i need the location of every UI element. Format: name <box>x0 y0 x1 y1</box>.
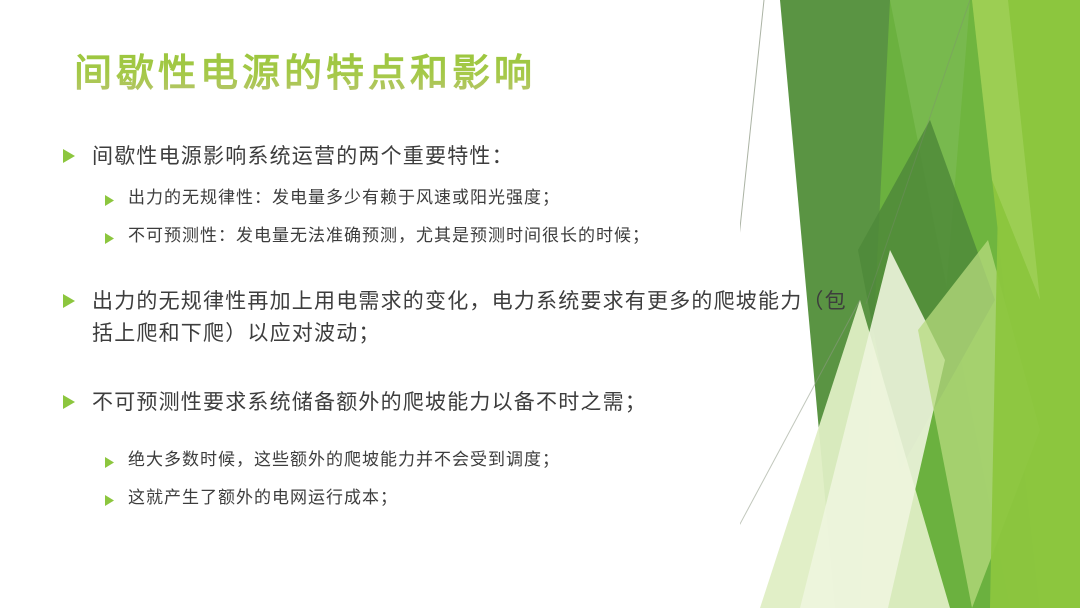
bullet-item-level1[interactable]: 不可预测性要求系统储备额外的爬坡能力以备不时之需； <box>62 386 862 419</box>
slide-body-content: 间歇性电源影响系统运营的两个重要特性： 出力的无规律性：发电量多少有赖于风速或阳… <box>62 140 862 513</box>
decor-shape-light-upper <box>972 0 1040 300</box>
triangle-right-icon <box>62 394 76 410</box>
spacer <box>62 475 862 485</box>
decor-shape-overlap-dark <box>858 120 995 470</box>
bullet-text: 不可预测性：发电量无法准确预测，尤其是预测时间很长的时候； <box>128 223 650 250</box>
decor-shape-mid-wedge <box>860 0 1040 608</box>
triangle-right-icon <box>62 293 76 309</box>
spacer <box>62 251 862 285</box>
spacer <box>62 421 862 447</box>
decor-shape-light-band <box>918 240 1040 608</box>
spacer <box>62 352 862 386</box>
bullet-item-level1[interactable]: 间歇性电源影响系统运营的两个重要特性： <box>62 140 862 173</box>
triangle-right-icon <box>104 232 115 245</box>
bullet-text: 不可预测性要求系统储备额外的爬坡能力以备不时之需； <box>92 386 647 419</box>
bullet-item-level2[interactable]: 这就产生了额外的电网运行成本； <box>104 485 862 512</box>
bullet-item-level2[interactable]: 不可预测性：发电量无法准确预测，尤其是预测时间很长的时候； <box>104 223 862 250</box>
spacer <box>62 213 862 223</box>
bullet-text: 出力的无规律性再加上用电需求的变化，电力系统要求有更多的爬坡能力（包括上爬和下爬… <box>92 285 862 350</box>
bullet-text: 间歇性电源影响系统运营的两个重要特性： <box>92 140 514 173</box>
bullet-text: 出力的无规律性：发电量多少有赖于风速或阳光强度； <box>128 185 560 212</box>
triangle-right-icon <box>104 494 115 507</box>
bullet-text: 绝大多数时候，这些额外的爬坡能力并不会受到调度； <box>128 447 560 474</box>
triangle-right-icon <box>62 148 76 164</box>
bullet-item-level1[interactable]: 出力的无规律性再加上用电需求的变化，电力系统要求有更多的爬坡能力（包括上爬和下爬… <box>62 285 862 350</box>
presentation-slide: 间歇性电源的特点和影响 间歇性电源影响系统运营的两个重要特性： 出力的无规律性：… <box>0 0 1080 608</box>
triangle-right-icon <box>104 456 115 469</box>
decor-shape-bright-band <box>990 0 1080 608</box>
bullet-item-level2[interactable]: 出力的无规律性：发电量多少有赖于风速或阳光强度； <box>104 185 862 212</box>
triangle-right-icon <box>104 194 115 207</box>
decor-shape-bright-right <box>920 0 1080 608</box>
title-block: 间歇性电源的特点和影响 <box>74 50 774 98</box>
spacer <box>62 175 862 185</box>
bullet-text: 这就产生了额外的电网运行成本； <box>128 485 398 512</box>
page-title: 间歇性电源的特点和影响 <box>74 50 774 98</box>
decor-hairline-tertiary <box>866 0 970 304</box>
bullet-item-level2[interactable]: 绝大多数时候，这些额外的爬坡能力并不会受到调度； <box>104 447 862 474</box>
